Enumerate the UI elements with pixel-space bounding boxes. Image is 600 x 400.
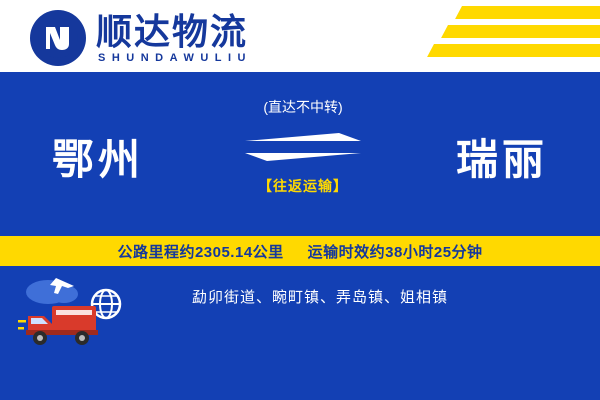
header-stripes-decoration bbox=[370, 0, 600, 72]
info-bar: 公路里程约2305.14公里 运输时效约38小时25分钟 bbox=[0, 236, 600, 266]
logistics-route-poster: 顺达物流 SHUNDAWULIU 鄂州 (直达不中转) 【往返运输】 瑞丽 公路… bbox=[0, 0, 600, 400]
globe-icon bbox=[92, 290, 120, 318]
delivery-truck-icon bbox=[18, 272, 138, 356]
coverage-areas: 勐卯街道、畹町镇、弄岛镇、姐相镇 bbox=[152, 286, 448, 307]
route-section: 鄂州 (直达不中转) 【往返运输】 瑞丽 bbox=[0, 98, 600, 208]
brand-name: 顺达物流 bbox=[96, 12, 248, 52]
poster-header: 顺达物流 SHUNDAWULIU bbox=[0, 0, 600, 72]
route-middle: (直达不中转) 【往返运输】 bbox=[236, 98, 370, 208]
stripe-1 bbox=[455, 6, 600, 19]
destination-city: 瑞丽 bbox=[456, 126, 548, 187]
brand-logo-icon bbox=[30, 10, 86, 66]
double-arrow-icon bbox=[236, 130, 370, 164]
distance-text: 公路里程约2305.14公里 bbox=[117, 241, 283, 262]
direct-label: (直达不中转) bbox=[236, 98, 370, 116]
duration-text: 运输时效约38小时25分钟 bbox=[308, 241, 483, 262]
stripe-2 bbox=[441, 25, 600, 38]
roundtrip-label: 【往返运输】 bbox=[236, 176, 370, 196]
stripe-3 bbox=[427, 44, 600, 57]
brand-pinyin: SHUNDAWULIU bbox=[98, 52, 252, 64]
truck-body bbox=[26, 306, 98, 345]
origin-city: 鄂州 bbox=[52, 126, 144, 187]
motion-lines bbox=[18, 320, 26, 330]
